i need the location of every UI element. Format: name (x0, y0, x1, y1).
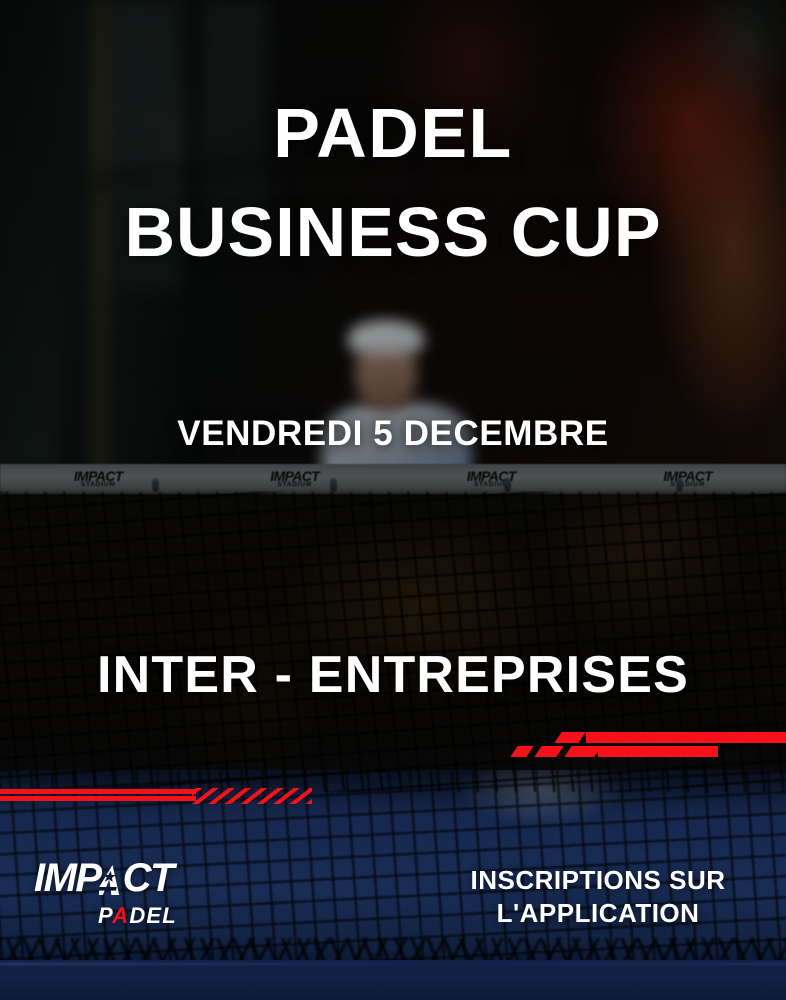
logo-sub-post: DEL (129, 903, 177, 928)
title-line-1: PADEL (0, 84, 786, 183)
poster-content: PADEL BUSINESS CUP VENDREDI 5 DECEMBRE I… (0, 0, 786, 1000)
red-bar-segment (0, 796, 196, 801)
cta-line-2: L'APPLICATION (448, 897, 748, 930)
red-stripe-dash (622, 732, 665, 743)
title-line-2: BUSINESS CUP (0, 183, 786, 282)
logo-brand-post: CT (123, 856, 173, 900)
event-category: INTER - ENTREPRISES (0, 645, 786, 705)
padel-business-cup-poster: IMPACT STADIUM IMPACT STADIUM IMPACT STA… (0, 0, 786, 1000)
logo-sub-wordmark: PADEL (34, 905, 254, 927)
red-bar-left (0, 788, 320, 804)
impact-padel-logo: IMP CT PADEL (34, 858, 254, 927)
logo-sub-accent-letter: A (112, 903, 129, 928)
red-bar-hatch (192, 788, 312, 804)
poster-title: PADEL BUSINESS CUP (0, 84, 786, 283)
red-stripe-dash (534, 746, 563, 757)
logo-sub-pre: P (98, 903, 112, 928)
logo-brand-pre: IMP (34, 856, 101, 900)
event-date: VENDREDI 5 DECEMBRE (0, 414, 786, 454)
registration-cta: INSCRIPTIONS SUR L'APPLICATION (448, 864, 748, 931)
cta-line-1: INSCRIPTIONS SUR (448, 864, 748, 897)
red-stripe-dash (564, 746, 601, 757)
red-stripes-right (496, 730, 786, 766)
red-bar-segment (0, 789, 196, 794)
red-stripe-dash (510, 746, 533, 757)
red-stripe-dash (554, 732, 585, 743)
logo-star-a-icon (99, 862, 125, 892)
logo-brand-wordmark: IMP CT (34, 858, 254, 898)
